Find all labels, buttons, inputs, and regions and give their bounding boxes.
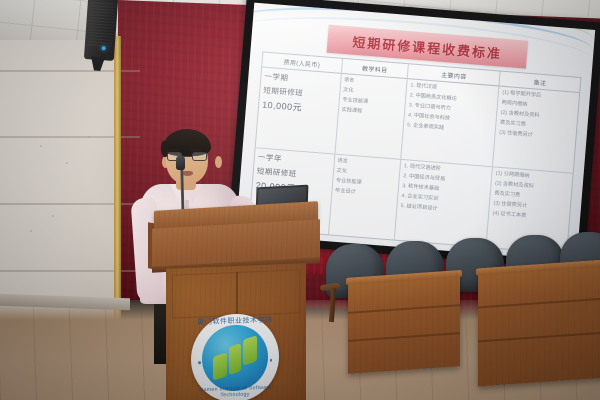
cell-subjects: 语言 文化 专业技能课 毕业设计: [328, 155, 401, 240]
loudspeaker-icon: [84, 0, 118, 61]
audience-desk: [478, 260, 600, 387]
microphone-icon: [176, 155, 185, 170]
ear: [215, 156, 222, 168]
subject-item: 实践课程: [341, 107, 401, 119]
lecture-hall-photo: 短期研修课程收费标准 费用(人民币) 教学科目 主要内容 备注 一学期 短期研修…: [0, 0, 600, 400]
podium: 厦门软件职业技术学院 Xiamen Institute of Software …: [150, 206, 322, 400]
mouth: [182, 171, 193, 176]
cell-contents: 1. 现代汉语进阶 2. 中国经济与贸易 3. 软件技术基础 4. 企业实习实训…: [395, 160, 493, 247]
logo-ribbon-icon: [213, 337, 257, 379]
glasses-icon: [167, 152, 207, 161]
speaker-led-indicator: [102, 46, 106, 50]
institute-logo: 厦门软件职业技术学院 Xiamen Institute of Software …: [191, 312, 279, 400]
cell-notes: (1) 每学期开学后 两周内缴纳 (2) 含教材及资料 费及实习费 (3) 住宿…: [493, 87, 579, 173]
logo-english-name: Xiamen Institute of Software Technology: [191, 384, 279, 399]
subject-item: 毕业设计: [335, 188, 395, 200]
cell-subjects: 语言 文化 专业技能课 实践课程: [335, 74, 408, 159]
cell-contents: 1. 现代汉语 2. 中国商务文化概论 3. 专业口语与听力 4. 中国社会与科…: [402, 79, 500, 166]
podium-panel-seam: [236, 272, 238, 314]
speaker-grill: [88, 0, 115, 47]
audience-desk: [348, 270, 460, 374]
fee-amount: 10,000元: [262, 98, 335, 117]
audience-seating: [320, 238, 600, 400]
cell-fee: 一学期 短期研修班 10,000元: [256, 67, 342, 153]
